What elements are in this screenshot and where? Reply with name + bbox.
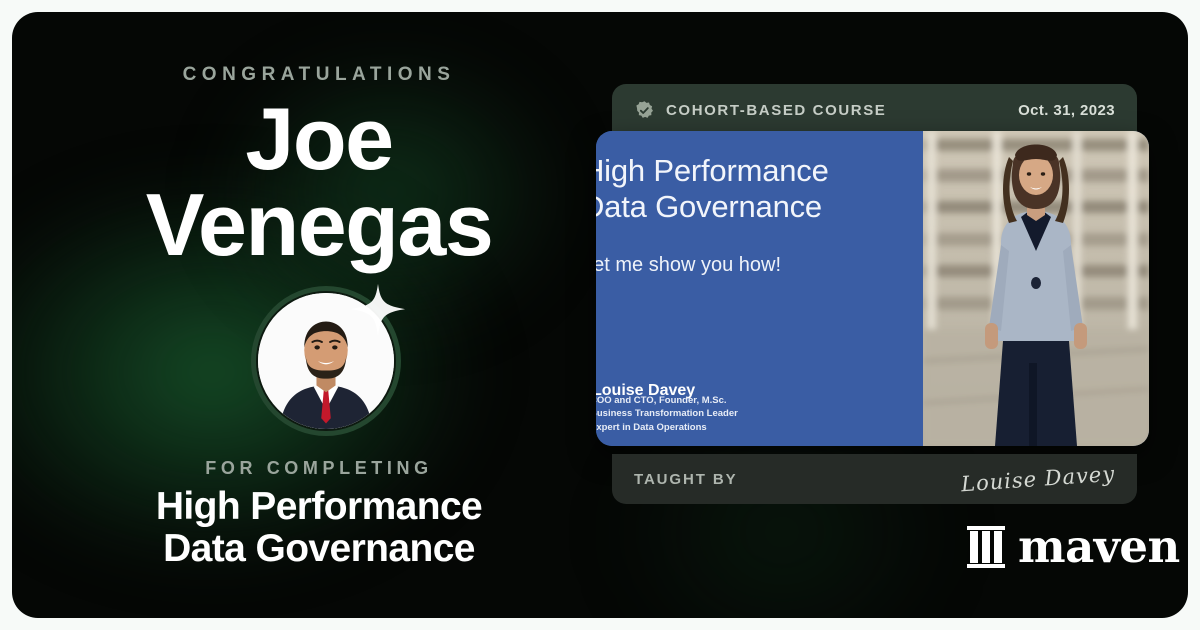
instructor-signature: Louise Davey: [960, 462, 1116, 497]
credential-line-1: COO and CTO, Founder, M.Sc.: [596, 394, 738, 407]
course-date: Oct. 31, 2023: [1018, 102, 1115, 119]
course-type-label: COHORT-BASED COURSE: [666, 102, 886, 119]
verified-badge-icon: [634, 100, 655, 121]
for-completing-label: FOR COMPLETING: [30, 458, 608, 479]
thumbnail-title-line2: Data Governance: [596, 189, 918, 225]
credential-line-2: Business Transformation Leader: [596, 407, 738, 420]
completed-course-title: High Performance Data Governance: [30, 486, 608, 570]
maven-pillars-icon: [967, 526, 1005, 568]
thumbnail-title: High Performance Data Governance: [596, 153, 918, 226]
course-card-footer: TAUGHT BY Louise Davey: [612, 454, 1137, 504]
completed-course-title-line2: Data Governance: [30, 528, 608, 570]
instructor-photo: [923, 131, 1149, 446]
thumbnail-instructor-credentials: COO and CTO, Founder, M.Sc. Business Tra…: [596, 394, 738, 434]
course-thumbnail-text-panel: High Performance Data Governance Let me …: [596, 131, 928, 446]
recipient-name-line1: Joe: [30, 96, 608, 182]
congratulations-label: CONGRATULATIONS: [30, 64, 608, 86]
recipient-name-line2: Venegas: [30, 182, 608, 268]
avatar: [251, 286, 401, 436]
course-card-header: COHORT-BASED COURSE Oct. 31, 2023: [612, 84, 1137, 136]
course-thumbnail: High Performance Data Governance Let me …: [596, 131, 1149, 446]
thumbnail-subtitle: Let me show you how!: [596, 254, 918, 277]
recipient-section: CONGRATULATIONS Joe Venegas: [30, 64, 608, 268]
thumbnail-title-line1: High Performance: [596, 153, 918, 189]
certificate-page: CONGRATULATIONS Joe Venegas: [0, 0, 1200, 630]
maven-logo: maven: [967, 524, 1180, 569]
credential-line-3: Expert in Data Operations: [596, 421, 738, 434]
recipient-name: Joe Venegas: [30, 96, 608, 268]
maven-wordmark: maven: [1018, 524, 1180, 569]
certificate-card: CONGRATULATIONS Joe Venegas: [12, 12, 1188, 618]
completed-course-title-line1: High Performance: [30, 486, 608, 528]
avatar-photo: [258, 293, 394, 429]
course-type: COHORT-BASED COURSE: [634, 100, 886, 121]
taught-by-label: TAUGHT BY: [634, 471, 737, 488]
